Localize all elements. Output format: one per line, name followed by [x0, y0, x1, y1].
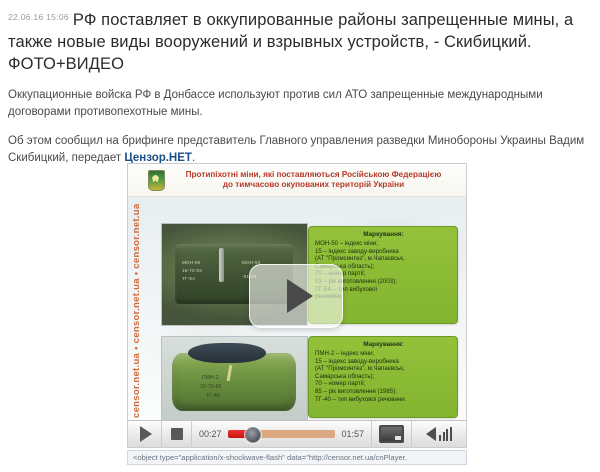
info-line: Самарська область); [315, 373, 452, 381]
volume-bars-icon [439, 427, 452, 441]
progress-scrubber-handle[interactable] [245, 427, 261, 443]
mine-pressure-cap [188, 343, 266, 363]
banner-line-1: Протипіхотні міни, які поставляються Рос… [186, 170, 442, 179]
mine-fuse [219, 248, 224, 282]
player-controls[interactable]: 00:27 01:57 [128, 420, 466, 447]
photo-pmn-2-mine: ПМН-2 15-70-85 ТГ-40 [161, 336, 308, 420]
info-line: (АТ "Промсинтез", м.Чапаєвськ, [315, 365, 452, 373]
page-title: 22.06.16 15:06РФ поставляет в оккупирова… [8, 6, 592, 75]
watermark-censor-net: censor.net.ua • censor.net.ua • censor.n… [130, 186, 144, 418]
mine-marking-3: ТГ-5А [182, 276, 195, 281]
play-triangle-icon [287, 279, 313, 313]
mine-marking-b2: 15-70-85 [200, 384, 222, 390]
banner-line-2: до тимчасово окупованих територій Україн… [169, 180, 458, 191]
total-time-label: 01:57 [341, 429, 364, 439]
speaker-icon [426, 427, 436, 441]
video-title-banner: Протипіхотні міни, які поставляються Рос… [128, 164, 466, 197]
video-stage[interactable]: Протипіхотні міни, які поставляються Рос… [128, 164, 466, 420]
video-title-text: Протипіхотні міни, які поставляються Рос… [169, 170, 466, 191]
video-player[interactable]: Протипіхотні міни, які поставляються Рос… [127, 163, 467, 448]
info-panel-title: Маркування: [315, 231, 452, 238]
volume-control[interactable] [412, 421, 466, 448]
play-icon [140, 426, 152, 442]
info-line: (АТ "Промсинтез", м.Чапаєвськ, [315, 255, 452, 263]
play-button[interactable] [128, 421, 162, 448]
article-body: Оккупационные войска РФ в Донбассе испол… [0, 79, 600, 167]
info-line: ПМН-2 – індекс міни; [315, 350, 452, 358]
play-overlay-button[interactable] [249, 264, 343, 328]
mine-marking-2: 15-70-03 [182, 268, 202, 273]
mine-marking-b3: ТГ-40 [206, 393, 220, 399]
info-panel-title: Маркування: [315, 341, 452, 348]
fullscreen-button[interactable] [372, 421, 412, 448]
info-line: МОН-50 – індекс міни; [315, 240, 452, 248]
info-line: 85 – рік виготовлення (1985); [315, 388, 452, 396]
mine-marking-1: МОН-50 [182, 260, 201, 265]
stop-button[interactable] [162, 421, 192, 448]
article-paragraph-2: Об этом сообщил на брифинге представител… [8, 133, 592, 167]
headline-block: 22.06.16 15:06РФ поставляет в оккупирова… [0, 0, 600, 79]
info-line: 15 – індекс заводу-виробника [315, 358, 452, 366]
article-timestamp: 22.06.16 15:06 [8, 12, 73, 22]
mine-marking-b1: ПМН-2 [202, 375, 219, 381]
progress-area[interactable]: 00:27 01:57 [192, 421, 372, 448]
object-embed-code: <object type="application/x-shockwave-fl… [127, 450, 467, 465]
stop-icon [171, 428, 183, 440]
ukraine-crest-icon [148, 170, 165, 191]
info-line: 15 – індекс заводу-виробника [315, 248, 452, 256]
paragraph-2-text-before: Об этом сообщил на брифинге представител… [8, 135, 584, 164]
info-line: 70 – номер партії; [315, 380, 452, 388]
current-time-label: 00:27 [199, 429, 222, 439]
info-line: ТГ-40 – тип вибухової речовини. [315, 396, 452, 404]
fullscreen-icon [379, 425, 404, 443]
headline-text: РФ поставляет в оккупированные районы за… [8, 11, 573, 73]
progress-track[interactable] [228, 430, 336, 438]
article-paragraph-1: Оккупационные войска РФ в Донбассе испол… [8, 87, 592, 121]
info-panel-pmn-2: Маркування: ПМН-2 – індекс міни; 15 – ін… [308, 336, 458, 418]
article: 22.06.16 15:06РФ поставляет в оккупирова… [0, 0, 600, 179]
